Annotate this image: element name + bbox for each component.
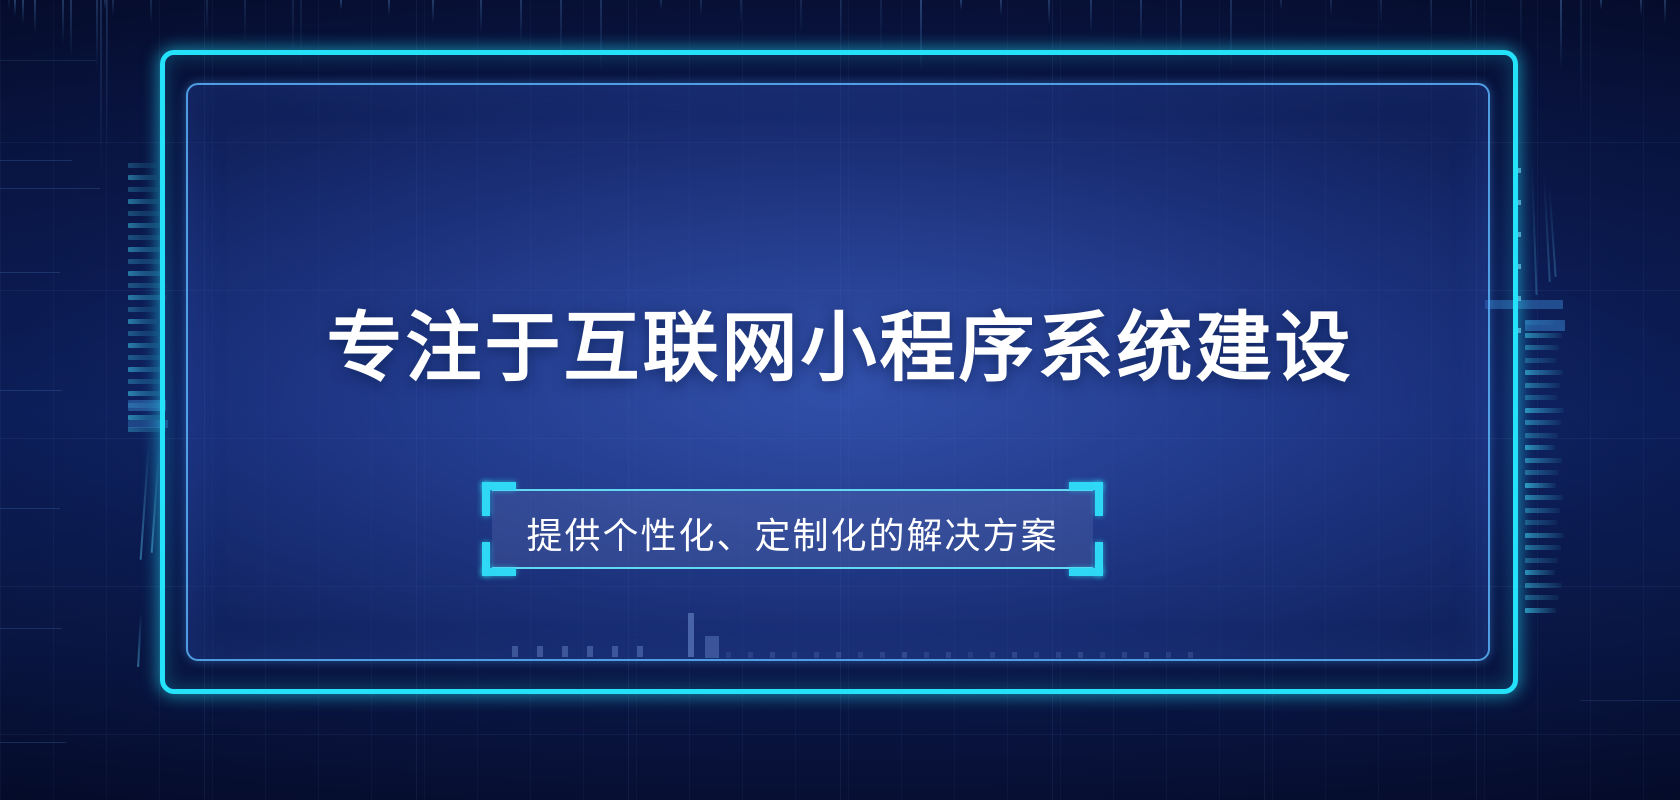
subtitle-top-rule xyxy=(492,489,1093,491)
page-title: 专注于互联网小程序系统建设 xyxy=(0,286,1680,396)
banner-stage: 专注于互联网小程序系统建设 提供个性化、定制化的解决方案 xyxy=(0,0,1680,800)
subtitle-bracket-box: 提供个性化、定制化的解决方案 xyxy=(470,468,1115,578)
page-subtitle: 提供个性化、定制化的解决方案 xyxy=(470,498,1115,568)
